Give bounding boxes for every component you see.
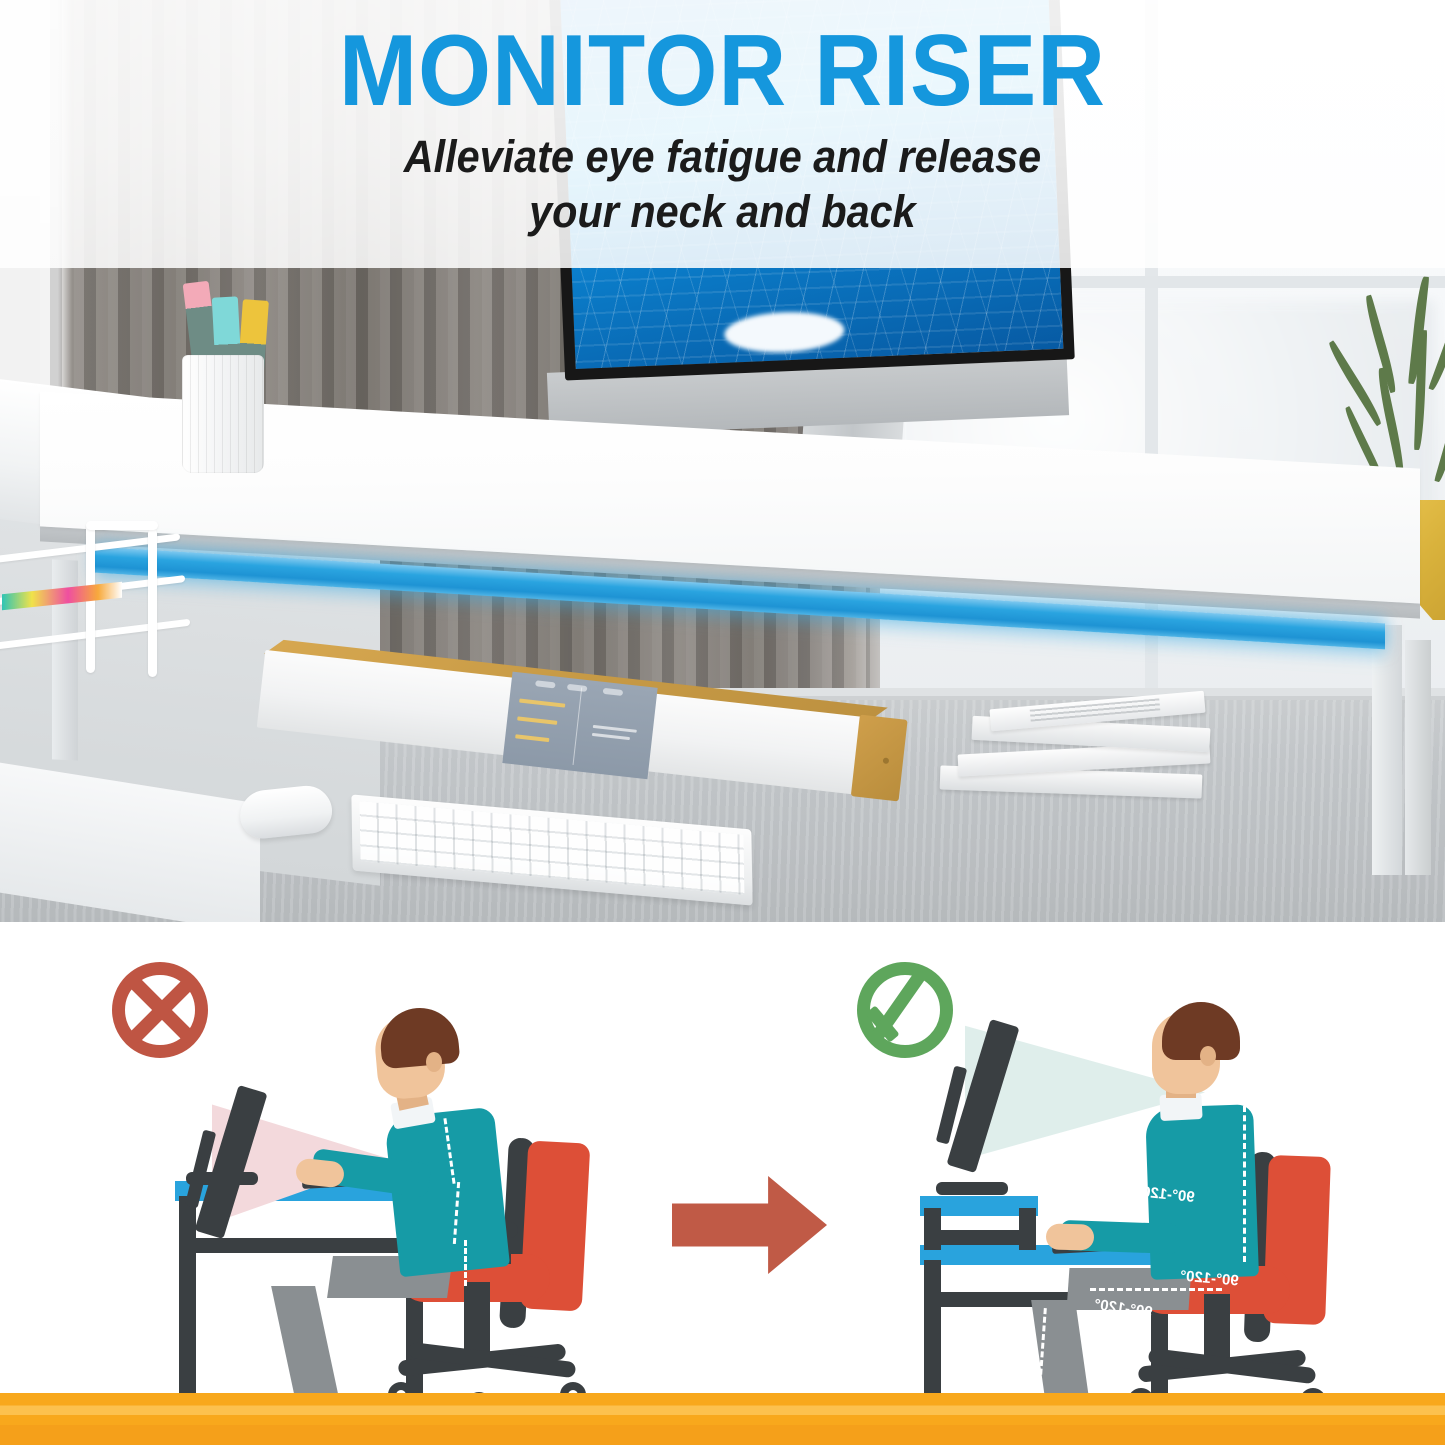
bad-monitor-foot (186, 1172, 258, 1185)
good-ear (1200, 1046, 1216, 1066)
bad-chair-post (464, 1282, 490, 1358)
product-infographic-page: MONITOR RISER Alleviate eye fatigue and … (0, 0, 1445, 1445)
good-chair-post (1204, 1294, 1230, 1364)
page-subtitle: Alleviate eye fatigue and release your n… (404, 130, 1041, 240)
pen-cup (182, 355, 264, 473)
good-riser-rail (924, 1230, 1026, 1245)
header-banner: MONITOR RISER Alleviate eye fatigue and … (0, 0, 1445, 268)
bad-ear (426, 1052, 442, 1072)
riser-leg-right-rear (1405, 640, 1431, 875)
page-title: MONITOR RISER (339, 18, 1106, 124)
floor-bar (0, 1393, 1445, 1445)
good-spine-dash-2 (1243, 1190, 1246, 1262)
subtitle-line-2: your neck and back (404, 185, 1041, 240)
riser-leg-right (1372, 625, 1402, 875)
product-box-label (502, 672, 657, 780)
file-organizer (0, 545, 205, 675)
good-hip-dash (1090, 1288, 1222, 1291)
bad-spine-dash-3 (464, 1240, 467, 1286)
good-hand (1046, 1224, 1094, 1251)
check-mark-icon (857, 962, 953, 1058)
product-box-cap (851, 715, 908, 802)
bad-desk-rail-upper (179, 1238, 423, 1253)
good-spine-dash-1 (1243, 1106, 1246, 1186)
good-monitor-foot (936, 1182, 1008, 1195)
x-mark-icon (112, 962, 208, 1058)
subtitle-line-1: Alleviate eye fatigue and release (404, 130, 1041, 185)
